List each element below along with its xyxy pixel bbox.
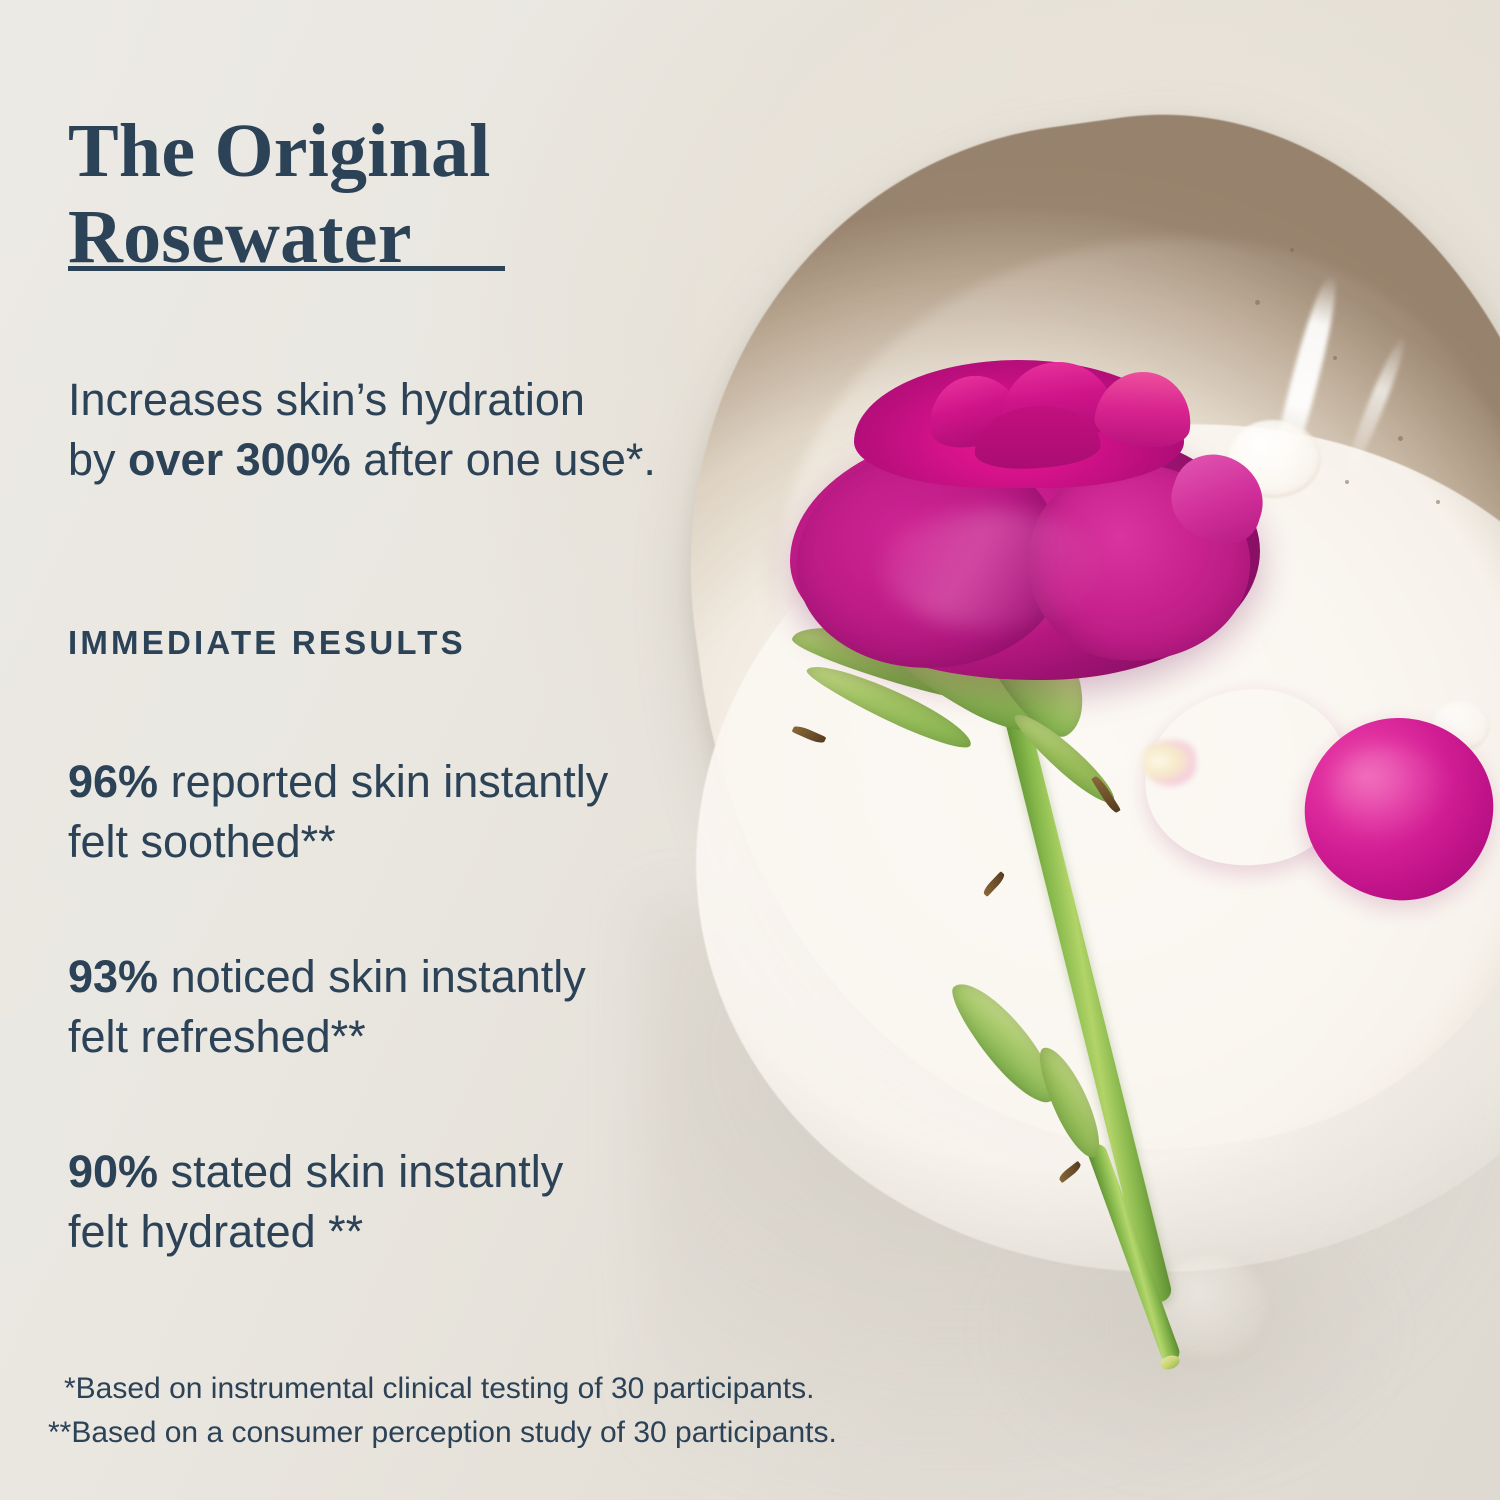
title-divider-rule [68, 266, 505, 271]
stat-value: 96% [68, 756, 158, 807]
stat-item: 90% stated skin instantly felt hydrated … [68, 1142, 828, 1263]
stat-line-1: stated skin instantly [158, 1146, 563, 1197]
headline-line-1: The Original [68, 109, 491, 193]
stat-item: 93% noticed skin instantly felt refreshe… [68, 947, 828, 1068]
footnote-double-asterisk: **Based on a consumer perception study o… [48, 1411, 837, 1455]
stat-value: 90% [68, 1146, 158, 1197]
hydration-claim-line-1: Increases skin’s hydration [68, 374, 585, 425]
hydration-claim-emphasis: over 300% [128, 434, 351, 485]
stat-item: 96% reported skin instantly felt soothed… [68, 752, 828, 873]
stat-value: 93% [68, 951, 158, 1002]
claims-text-panel: The Original Rosewater Increases skin’s … [0, 0, 1500, 1500]
hydration-claim-prefix: by [68, 434, 128, 485]
stat-line-1: reported skin instantly [158, 756, 608, 807]
page-title: The Original Rosewater [68, 109, 688, 281]
product-claims-graphic: The Original Rosewater Increases skin’s … [0, 0, 1500, 1500]
stat-line-2: felt refreshed** [68, 1011, 366, 1062]
footnote-single-asterisk: *Based on instrumental clinical testing … [48, 1367, 837, 1411]
hydration-claim: Increases skin’s hydration by over 300% … [68, 370, 828, 491]
section-heading-immediate-results: IMMEDIATE RESULTS [68, 624, 466, 662]
stat-line-2: felt soothed** [68, 816, 336, 867]
footnotes: *Based on instrumental clinical testing … [48, 1367, 837, 1456]
stat-line-2: felt hydrated ** [68, 1206, 363, 1257]
stat-line-1: noticed skin instantly [158, 951, 586, 1002]
hydration-claim-suffix: after one use*. [351, 434, 656, 485]
